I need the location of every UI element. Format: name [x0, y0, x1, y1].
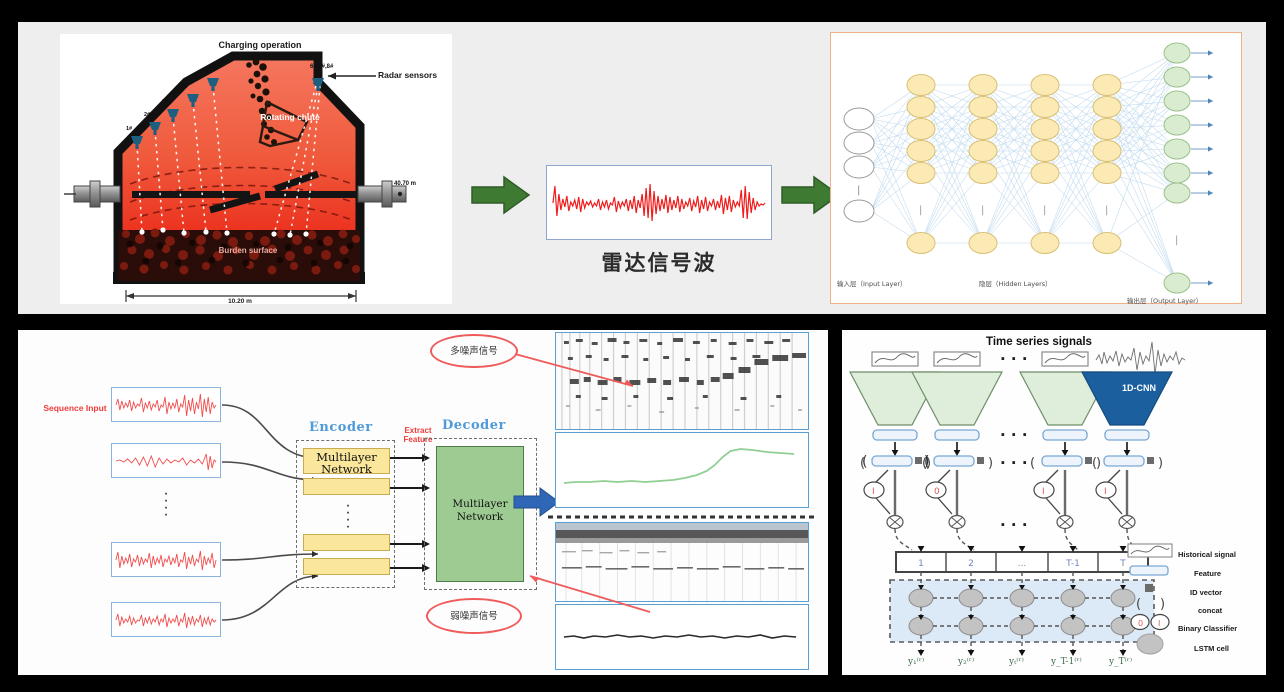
sensor-number-2: 2# — [144, 112, 150, 118]
waveform-icon — [112, 444, 220, 477]
annotation-noisy-leader — [513, 348, 643, 393]
legend-label-binary-classifier: Binary Classifier — [1178, 624, 1237, 633]
decoder-network-label: Multilayer Network — [436, 498, 524, 524]
input-waveform-1 — [111, 387, 221, 422]
svg-text:· · ·: · · · — [1000, 516, 1028, 534]
furnace-width-dim-label: 10.20 m — [190, 298, 290, 305]
output-label-t-minus-1: y_T-1⁽ʳ⁾ — [1051, 657, 1082, 667]
cnn-label: 1D-CNN — [1101, 383, 1177, 393]
flow-arrow-1-icon — [470, 174, 532, 216]
encoder-layer-1-label: Multilayer Network — [304, 451, 389, 475]
nn-input-layer-label: 输入层（Input Layer） — [837, 278, 907, 288]
svg-text:· · ·: · · · — [1000, 426, 1028, 444]
charging-operation-label: Charging operation — [180, 40, 340, 50]
radar-signal-caption: 雷达信号波 — [546, 247, 772, 277]
radar-sensors-label: Radar sensors — [378, 70, 437, 80]
nn-hidden-layer-label: 隐层（Hidden Layers） — [979, 278, 1052, 288]
neural-network-diagram: | |||| | — [830, 32, 1242, 304]
svg-text:): ) — [1158, 456, 1163, 471]
legend-label-id-vector: ID vector — [1190, 588, 1222, 597]
svg-text:· · ·: · · · — [1000, 454, 1028, 472]
svg-text:|: | — [1105, 205, 1108, 216]
svg-text:(: ( — [922, 456, 927, 471]
svg-text:): ) — [988, 456, 993, 471]
svg-text:I: I — [872, 487, 875, 497]
blast-furnace-diagram: Charging operation Rotating chute Burden… — [60, 34, 452, 304]
radar-signal-wave-card — [546, 165, 772, 240]
legend-label-lstm-cell: LSTM cell — [1194, 644, 1229, 653]
svg-text:0: 0 — [1138, 619, 1143, 628]
encoder-title: Encoder — [309, 420, 373, 435]
annotation-clean-text: 弱噪声信号 — [450, 611, 498, 622]
waveform-icon — [112, 543, 220, 576]
legend-label-feature: Feature — [1194, 569, 1221, 578]
svg-text:I: I — [1104, 487, 1107, 497]
svg-text:T: T — [1119, 559, 1126, 569]
svg-text:I: I — [1158, 619, 1160, 628]
encoder-layer-2 — [303, 478, 390, 495]
encoder-ellipsis: ···· — [338, 502, 358, 530]
svg-text:1: 1 — [918, 559, 924, 569]
input-waveform-4 — [111, 602, 221, 637]
legend-label-historical-signal: Historical signal — [1178, 550, 1236, 559]
svg-text:T-1: T-1 — [1065, 559, 1080, 569]
sensor-number-3: 3# — [162, 99, 168, 105]
sensor-number-4: 4# — [182, 84, 188, 90]
annotation-noisy-signal: 多噪声信号 — [430, 334, 518, 368]
annotation-noisy-text: 多噪声信号 — [450, 346, 498, 357]
waveform-icon — [112, 603, 220, 636]
annotation-clean-leader — [516, 570, 656, 620]
svg-text:(: ( — [1136, 597, 1141, 612]
output-label-t: yₜ⁽ʳ⁾ — [1009, 657, 1024, 667]
output-label-T: y_T⁽ʳ⁾ — [1109, 657, 1132, 667]
legend-label-concat: concat — [1198, 606, 1222, 615]
input-waveform-2 — [111, 443, 221, 478]
nn-graph-icon: | |||| | — [831, 33, 1243, 303]
svg-text:(: ( — [1092, 456, 1097, 471]
radar-waveform-icon — [547, 166, 771, 239]
waveform-icon — [112, 388, 220, 421]
svg-text:I: I — [1042, 487, 1045, 497]
output-green-trend — [555, 432, 809, 508]
figure-root: Charging operation Rotating chute Burden… — [0, 0, 1284, 692]
green-trend-line-icon — [556, 433, 808, 507]
svg-text:|: | — [981, 205, 984, 216]
furnace-height-dim-label: 40.70 m — [394, 181, 416, 187]
svg-text:): ) — [1160, 597, 1165, 612]
encoder-layer-4 — [303, 558, 390, 575]
sensor-number-5: 5# — [202, 68, 208, 74]
input-waveform-3 — [111, 542, 221, 577]
output-label-2: y₂⁽ʳ⁾ — [958, 657, 974, 667]
svg-text:(: ( — [860, 456, 865, 471]
cnn-highlight-trapezoid — [1082, 372, 1172, 425]
decoder-title: Decoder — [442, 418, 506, 433]
svg-text:|: | — [857, 185, 860, 196]
sensor-number-1: 1# — [126, 126, 132, 132]
sequence-input-label: Sequence Input — [42, 403, 108, 413]
nn-output-layer-label: 输出层（Output Layer） — [1127, 295, 1202, 305]
rotating-chute-label: Rotating chute — [230, 112, 350, 122]
top-panel: Charging operation Rotating chute Burden… — [18, 22, 1266, 314]
encoder-layer-1: Multilayer Network — [303, 448, 390, 474]
encoder-layer-3 — [303, 534, 390, 551]
svg-text:|: | — [1175, 235, 1178, 246]
svg-text:|: | — [1043, 205, 1046, 216]
encoder-decoder-panel: Sequence Input ···· — [18, 330, 828, 675]
svg-text:0: 0 — [934, 487, 940, 497]
svg-text:|: | — [919, 205, 922, 216]
burden-surface-label: Burden surface — [188, 246, 308, 255]
svg-text:(: ( — [1030, 456, 1035, 471]
output-label-1: y₁⁽ʳ⁾ — [908, 657, 924, 667]
annotation-clean-signal: 弱噪声信号 — [426, 598, 522, 634]
svg-text:...: ... — [1018, 559, 1027, 569]
svg-text:· · ·: · · · — [1000, 350, 1028, 368]
cnn-lstm-panel: Time series signals — [842, 330, 1266, 675]
input-ellipsis: ···· — [156, 490, 176, 518]
output-separator — [548, 514, 816, 520]
svg-text:2: 2 — [968, 559, 974, 569]
right-sensor-group-label: 6#,7#,8# — [310, 64, 333, 70]
